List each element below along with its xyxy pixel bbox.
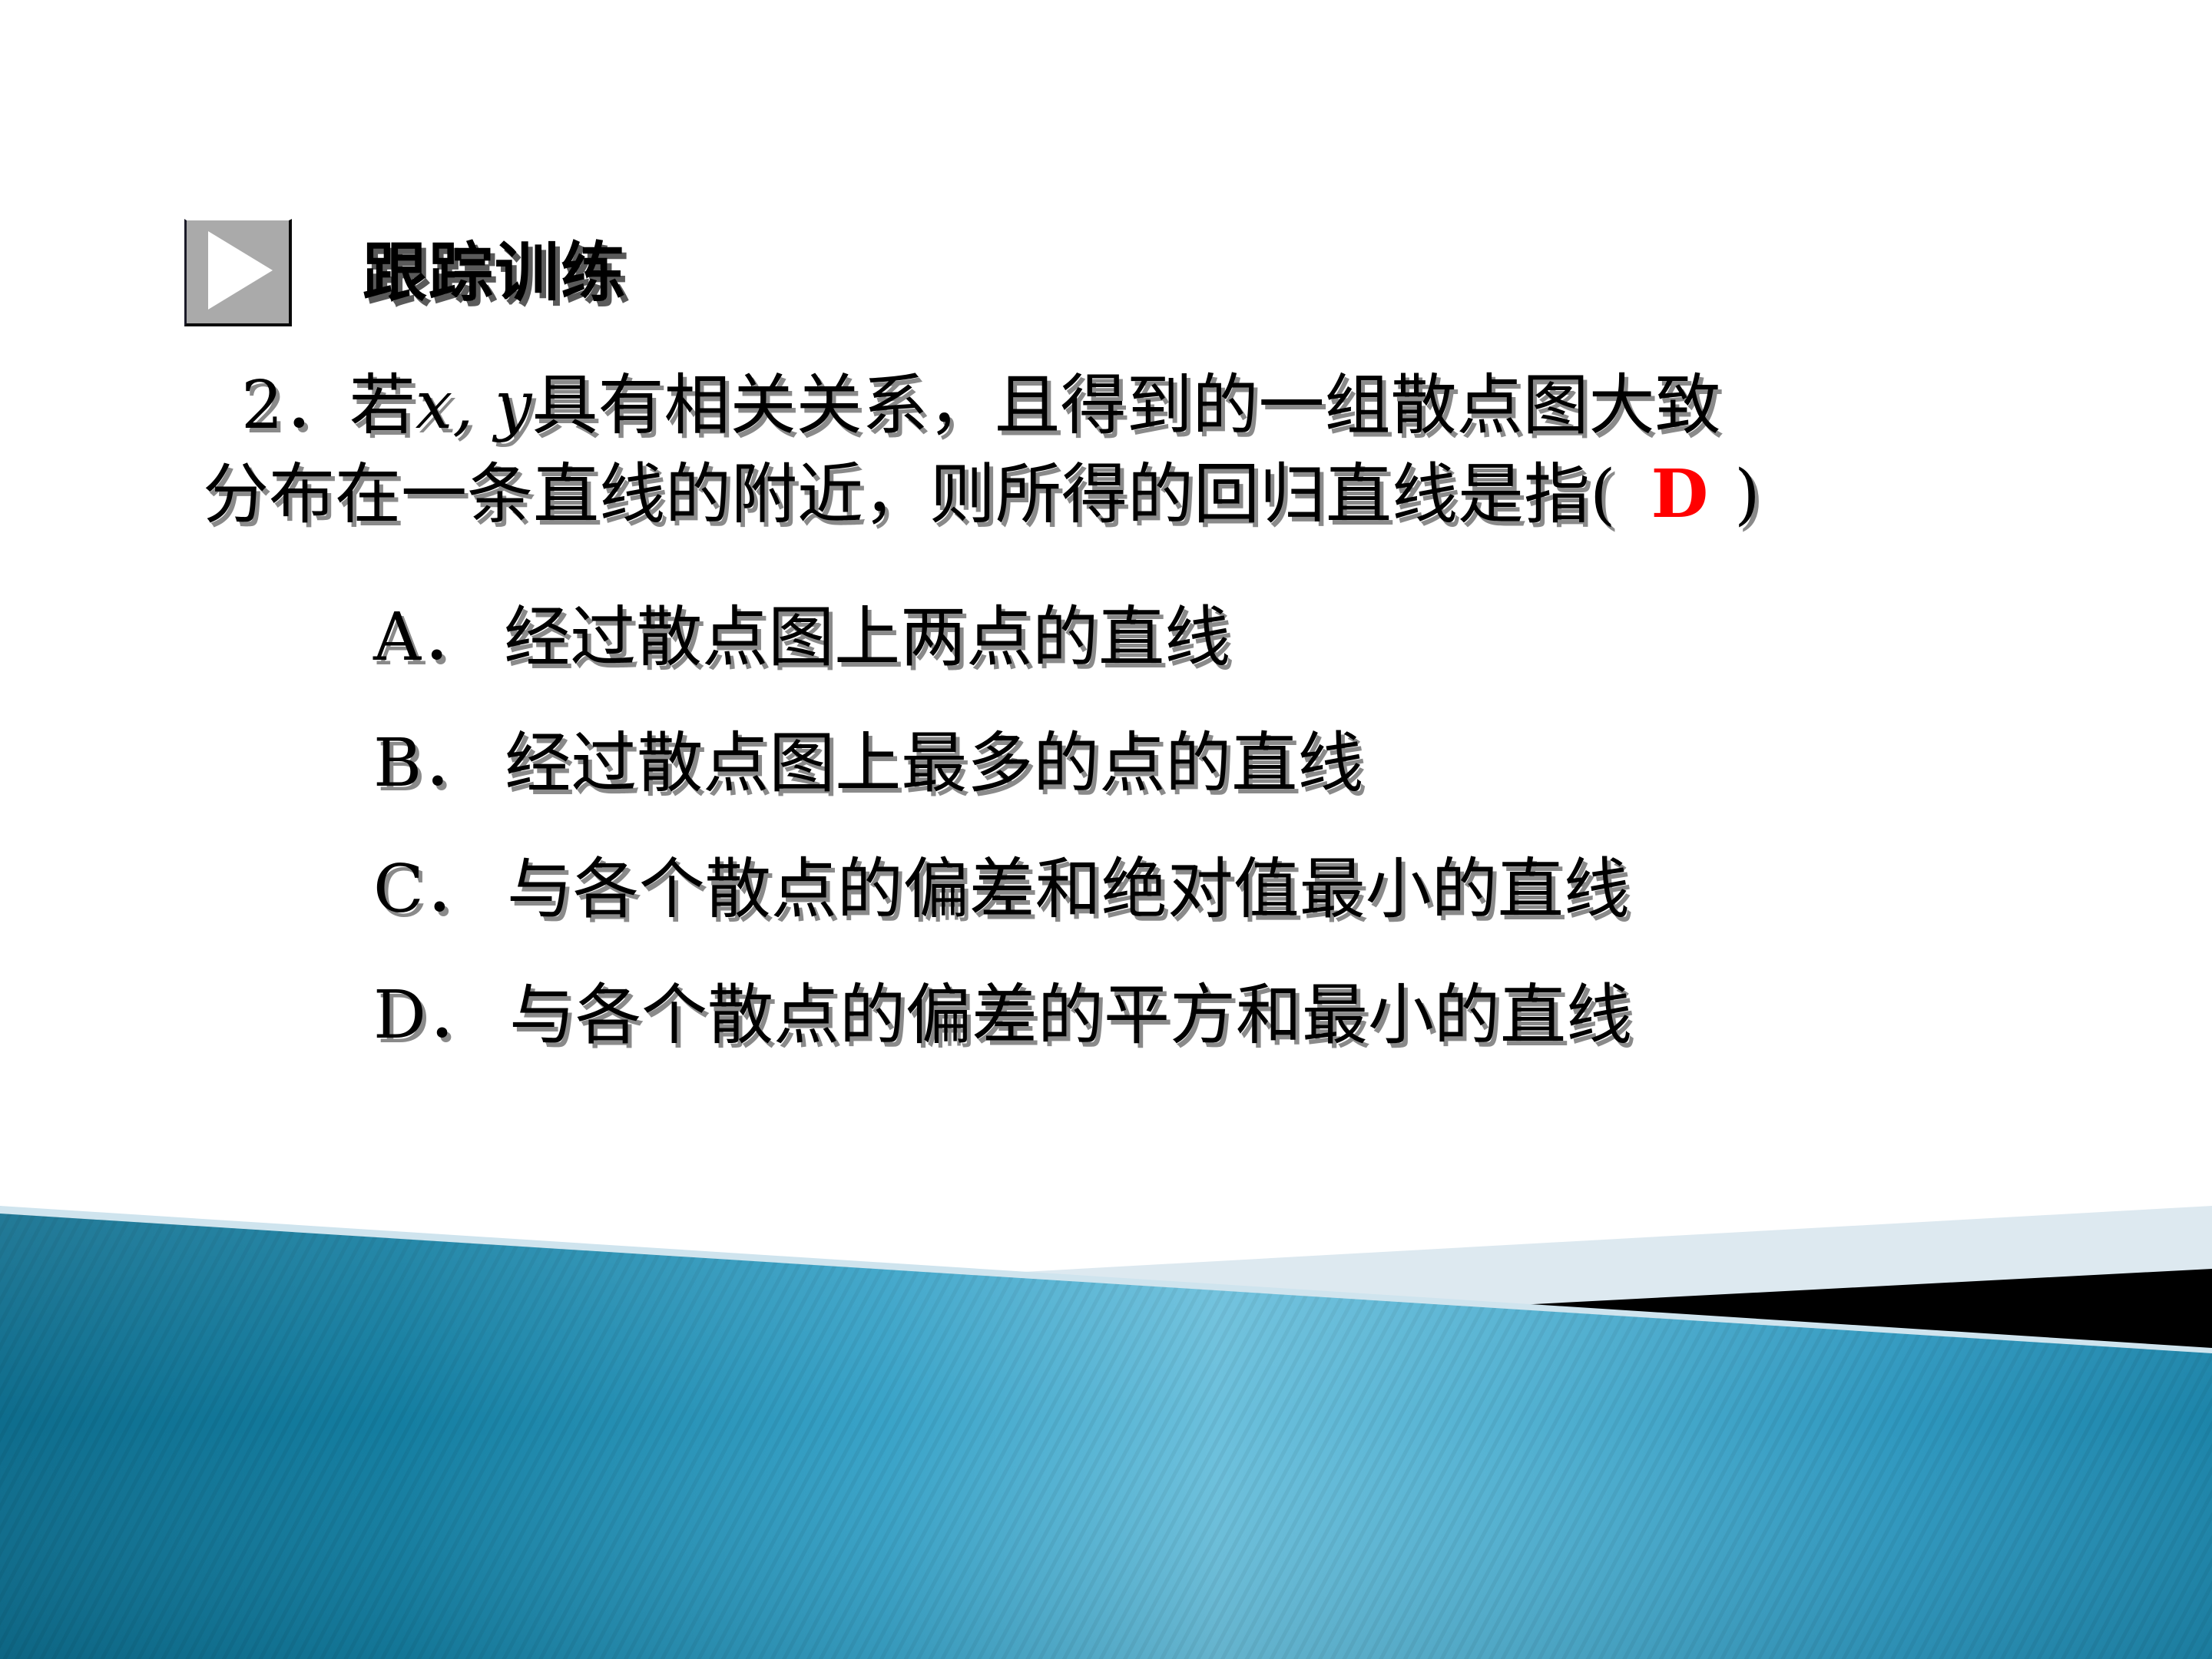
play-triangle-glyph (208, 231, 273, 310)
decoration-shapes (0, 1183, 2212, 1659)
answer-key: D (1616, 455, 1735, 533)
question-line-1: 2．若x, y具有相关关系，且得到的一组散点图大致 (203, 361, 2015, 450)
option-d-letter: D． (373, 977, 492, 1054)
question-text-suffix: 具有相关关系，且得到的一组散点图大致 (532, 367, 1721, 444)
option-a-text: 经过散点图上两点的直线 (487, 599, 1230, 676)
page-title: 跟踪训练 (363, 240, 627, 305)
variable-space (474, 367, 495, 444)
option-d[interactable]: D．与各个散点的偏差的平方和最小的直线 (203, 952, 2015, 1078)
option-b-text: 经过散点图上最多的点的直线 (488, 725, 1363, 802)
slide-canvas: 跟踪训练 2．若x, y具有相关关系，且得到的一组散点图大致 分布在一条直线的附… (0, 0, 2212, 1659)
option-b[interactable]: B．经过散点图上最多的点的直线 (203, 700, 2015, 826)
question-number: 2． (241, 367, 349, 444)
option-b-letter: B． (373, 725, 488, 802)
question-line-2: 分布在一条直线的附近，则所得的回归直线是指(D) (203, 450, 2015, 539)
option-a-letter: A． (373, 599, 487, 676)
play-triangle-icon[interactable] (184, 219, 292, 326)
option-d-text: 与各个散点的偏差的平方和最小的直线 (492, 977, 1632, 1054)
options-list: A．经过散点图上两点的直线 B．经过散点图上最多的点的直线 C．与各个散点的偏差… (203, 575, 2015, 1078)
section-header: 跟踪训练 (184, 217, 627, 329)
option-a[interactable]: A．经过散点图上两点的直线 (203, 575, 2015, 700)
bottom-decoration (0, 1183, 2212, 1659)
variable-x: x, (416, 367, 474, 444)
option-c-text: 与各个散点的偏差和绝对值最小的直线 (490, 851, 1630, 928)
question-text-after-answer: ) (1734, 456, 1760, 533)
question-text-before-answer: 分布在一条直线的附近，则所得的回归直线是指( (203, 456, 1616, 533)
question-block: 2．若x, y具有相关关系，且得到的一组散点图大致 分布在一条直线的附近，则所得… (203, 361, 2015, 1078)
option-c[interactable]: C．与各个散点的偏差和绝对值最小的直线 (203, 826, 2015, 952)
option-c-letter: C． (373, 851, 490, 928)
variable-y: y (495, 367, 532, 444)
question-text-prefix: 若 (349, 367, 416, 444)
